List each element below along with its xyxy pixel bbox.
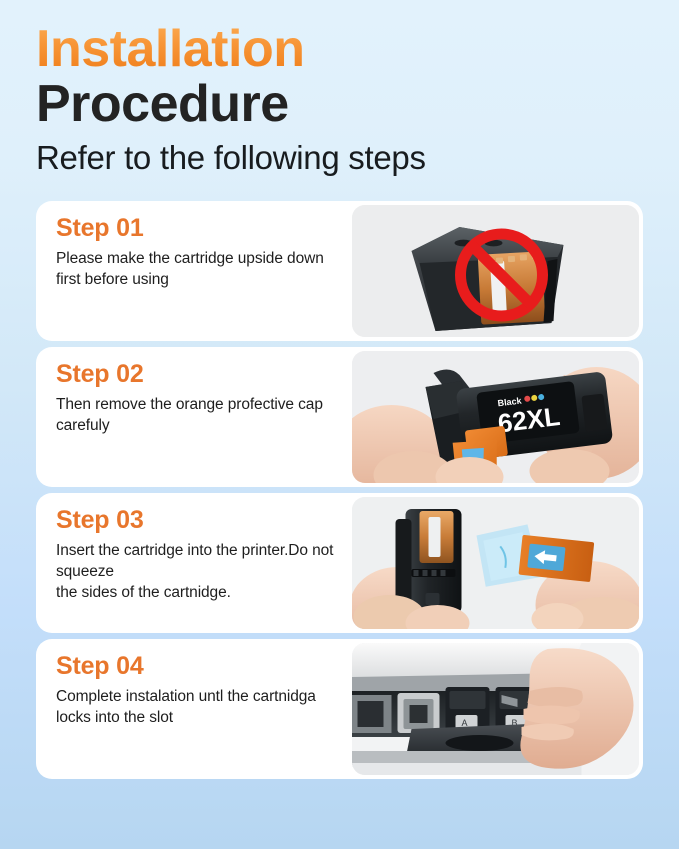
step-image: Black 62XL (352, 351, 639, 483)
cartridge-with-removed-tape-icon (352, 497, 639, 629)
page-title-secondary: Procedure (36, 77, 679, 132)
removing-orange-protective-cap-icon: Black 62XL (352, 351, 639, 483)
step-image (352, 497, 639, 629)
step-description: Complete instalation untl the cartnidga … (56, 686, 342, 729)
step-description: Insert the cartridge into the printer.Do… (56, 540, 342, 604)
step-text-block: Step 02 Then remove the orange profectiv… (36, 347, 352, 487)
step-label: Step 02 (56, 361, 342, 389)
steps-list: Step 01 Please make the cartridge upside… (36, 201, 643, 779)
step-description: Then remove the orange profective cap ca… (56, 394, 342, 437)
step-label: Step 01 (56, 215, 342, 243)
cartridge-upside-down-prohibited-icon (352, 205, 639, 337)
step-card: Step 03 Insert the cartridge into the pr… (36, 493, 643, 633)
step-text-block: Step 03 Insert the cartridge into the pr… (36, 493, 352, 633)
inserting-cartridge-into-printer-icon: A B (352, 643, 639, 775)
step-text-block: Step 04 Complete instalation untl the ca… (36, 639, 352, 779)
step-image: A B (352, 643, 639, 775)
page-subtitle: Refer to the following steps (36, 138, 679, 178)
page-header: Installation Procedure Refer to the foll… (0, 0, 679, 178)
step-label: Step 04 (56, 653, 342, 681)
installation-procedure-page: Installation Procedure Refer to the foll… (0, 0, 679, 849)
step-text-block: Step 01 Please make the cartridge upside… (36, 201, 352, 341)
step-card: Step 01 Please make the cartridge upside… (36, 201, 643, 341)
step-image (352, 205, 639, 337)
step-label: Step 03 (56, 507, 342, 535)
step-description: Please make the cartridge upside down fi… (56, 248, 342, 291)
step-card: Step 02 Then remove the orange profectiv… (36, 347, 643, 487)
step-card: Step 04 Complete instalation untl the ca… (36, 639, 643, 779)
page-title-primary: Installation (36, 22, 304, 77)
svg-text:A: A (462, 718, 468, 728)
